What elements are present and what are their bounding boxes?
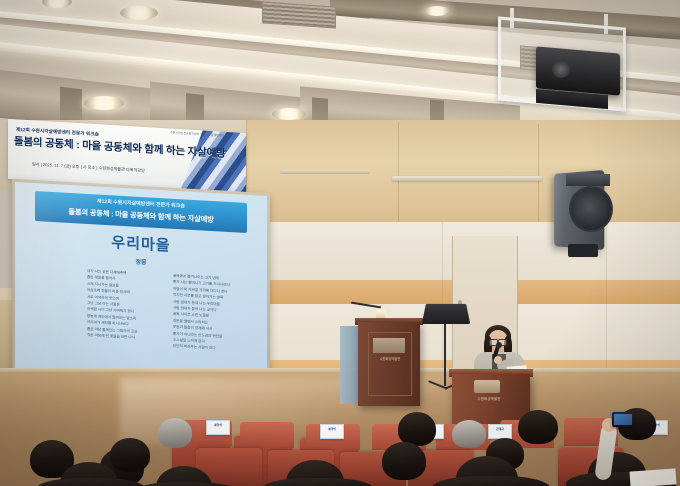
audience-head <box>158 418 192 448</box>
ceiling-downlight <box>84 96 124 110</box>
audience-head <box>518 410 558 444</box>
projection-screen: 제12회 수원시자살예방센터 전문가 워크숍 돌봄의 공동체 : 마을 공동체와… <box>15 182 267 386</box>
audience-head <box>110 438 150 472</box>
seat-placard-label: 예약석 <box>321 427 343 431</box>
auditorium-photo: 제12회 수원시자살예방센터 전문가 워크숍 돌봄의 공동체 : 마을 공동체와… <box>0 0 680 486</box>
audience-head <box>398 412 436 446</box>
lectern-emblem <box>373 338 405 353</box>
wall-seam <box>398 122 399 225</box>
lectern-label: 수원화성박물관 <box>372 356 408 361</box>
projector-lens-icon <box>552 60 570 78</box>
seat-placard: 관계자 <box>488 424 512 439</box>
audience-head <box>452 420 486 448</box>
audience-head <box>382 442 426 480</box>
podium-label: 수원화성박물관 <box>468 396 510 401</box>
pa-speaker-cone-icon <box>569 186 613 232</box>
seat[interactable] <box>240 422 294 448</box>
slide-poem-right-column: 골목에서 풍겨나오는 고기 냄새혼자 사는 할머니가 고기를 드시나보다아들이 … <box>173 273 230 353</box>
pa-speaker-horn <box>566 174 610 186</box>
pa-speaker-bracket <box>568 244 598 257</box>
slide-header-bar: 제12회 수원시자살예방센터 전문가 워크숍 돌봄의 공동체 : 마을 공동체와… <box>35 191 247 233</box>
music-stand-pole <box>444 324 446 386</box>
music-stand-tray <box>422 304 471 324</box>
smartphone-screen <box>614 414 632 425</box>
projector-icon <box>536 46 620 95</box>
ceiling-downlight <box>120 6 158 20</box>
microphone-head-icon <box>496 342 502 348</box>
wall-seam <box>538 124 539 225</box>
wall-handrail <box>280 170 370 174</box>
seat-placard-label: 관계자 <box>489 427 511 431</box>
seat-placard: 예약석 <box>206 420 230 435</box>
slide-poem-left-column: 내가 사는 곳은 다세대주택좁은 대문을 들어서스쳐 지나가는 얼굴들어슴프레 … <box>87 268 137 341</box>
speaker-hand <box>494 356 502 364</box>
ceiling-downlight <box>272 108 306 120</box>
seat-placard: 예약석 <box>320 424 344 439</box>
lectern-side-panel <box>340 326 360 404</box>
wall-handrail <box>392 176 542 181</box>
seat-placard-label: 예약석 <box>207 423 229 427</box>
podium-emblem <box>474 380 500 393</box>
ceiling-downlight <box>424 6 450 16</box>
handout-paper <box>629 468 676 486</box>
